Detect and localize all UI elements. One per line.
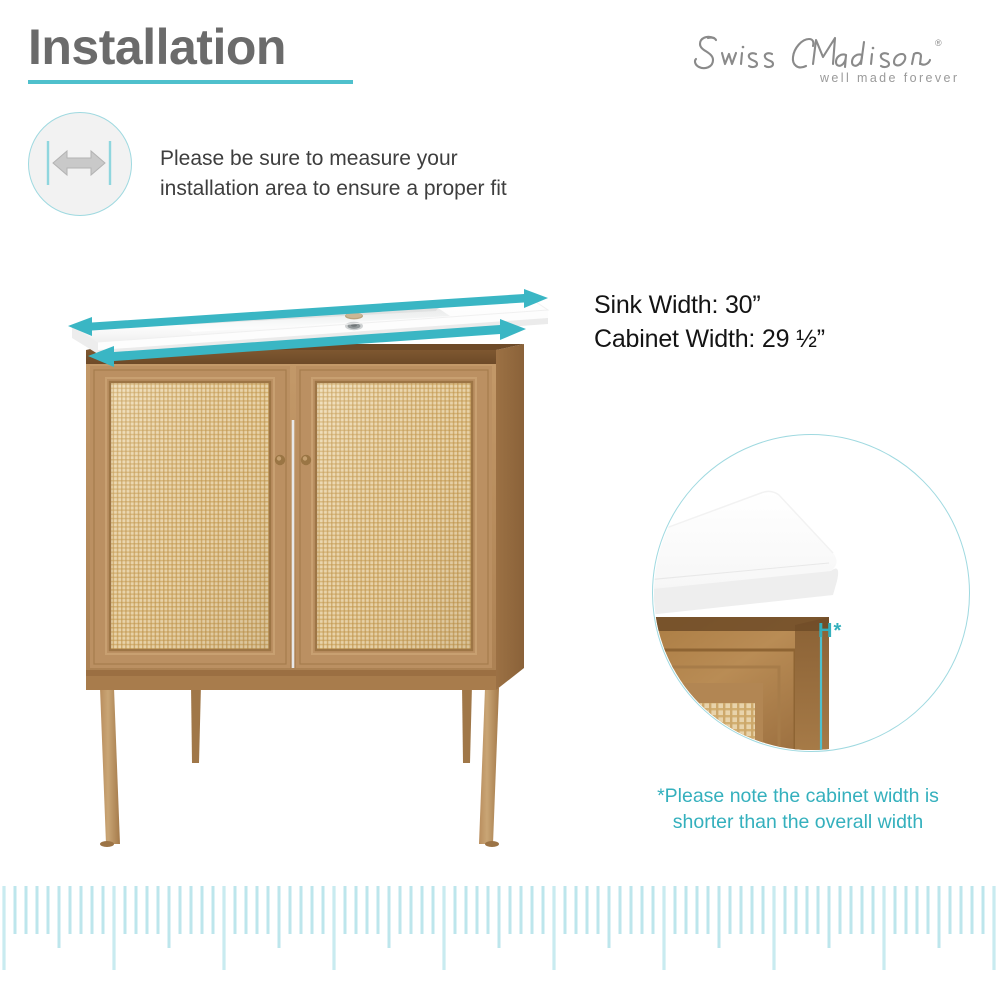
- cabinet-door-left[interactable]: [90, 366, 290, 668]
- sink-width-spec: Sink Width: 30”: [594, 288, 825, 322]
- leg-back-right: [462, 685, 472, 763]
- detail-countertop: [652, 491, 838, 621]
- trademark-symbol: ®: [935, 38, 942, 48]
- measure-width-icon: [28, 112, 132, 216]
- leg-front-left-foot: [100, 841, 114, 847]
- footnote-line-2: shorter than the overall width: [608, 810, 988, 836]
- measure-line-2: installation area to ensure a proper fit: [160, 174, 507, 204]
- page-title: Installation: [28, 20, 286, 75]
- footnote-line-1: *Please note the cabinet width is: [608, 784, 988, 810]
- detail-zoom-circle: [652, 434, 970, 752]
- measure-line-1: Please be sure to measure your: [160, 144, 507, 174]
- cabinet-door-right[interactable]: [296, 366, 492, 668]
- measure-instruction: Please be sure to measure your installat…: [160, 144, 507, 204]
- vanity-product-image: [58, 270, 558, 860]
- ruler-decoration: [0, 886, 1000, 986]
- cabinet-side-panel: [496, 344, 524, 690]
- leg-back-left: [191, 685, 201, 763]
- title-underline: [28, 80, 353, 84]
- dimension-specs: Sink Width: 30” Cabinet Width: 29 ½”: [594, 288, 825, 356]
- brand-tagline: well made forever: [819, 71, 959, 85]
- height-dimension-label: H*: [818, 620, 842, 643]
- brand-logo: ® well made forever: [686, 26, 976, 90]
- cabinet-width-footnote: *Please note the cabinet width is shorte…: [608, 784, 988, 836]
- cabinet-width-spec: Cabinet Width: 29 ½”: [594, 322, 825, 356]
- leg-front-right-foot: [485, 841, 499, 847]
- leg-front-left: [100, 688, 120, 844]
- installation-infographic: Installation: [0, 0, 1000, 1000]
- cabinet-legs: [100, 685, 499, 847]
- leg-front-right: [479, 688, 499, 844]
